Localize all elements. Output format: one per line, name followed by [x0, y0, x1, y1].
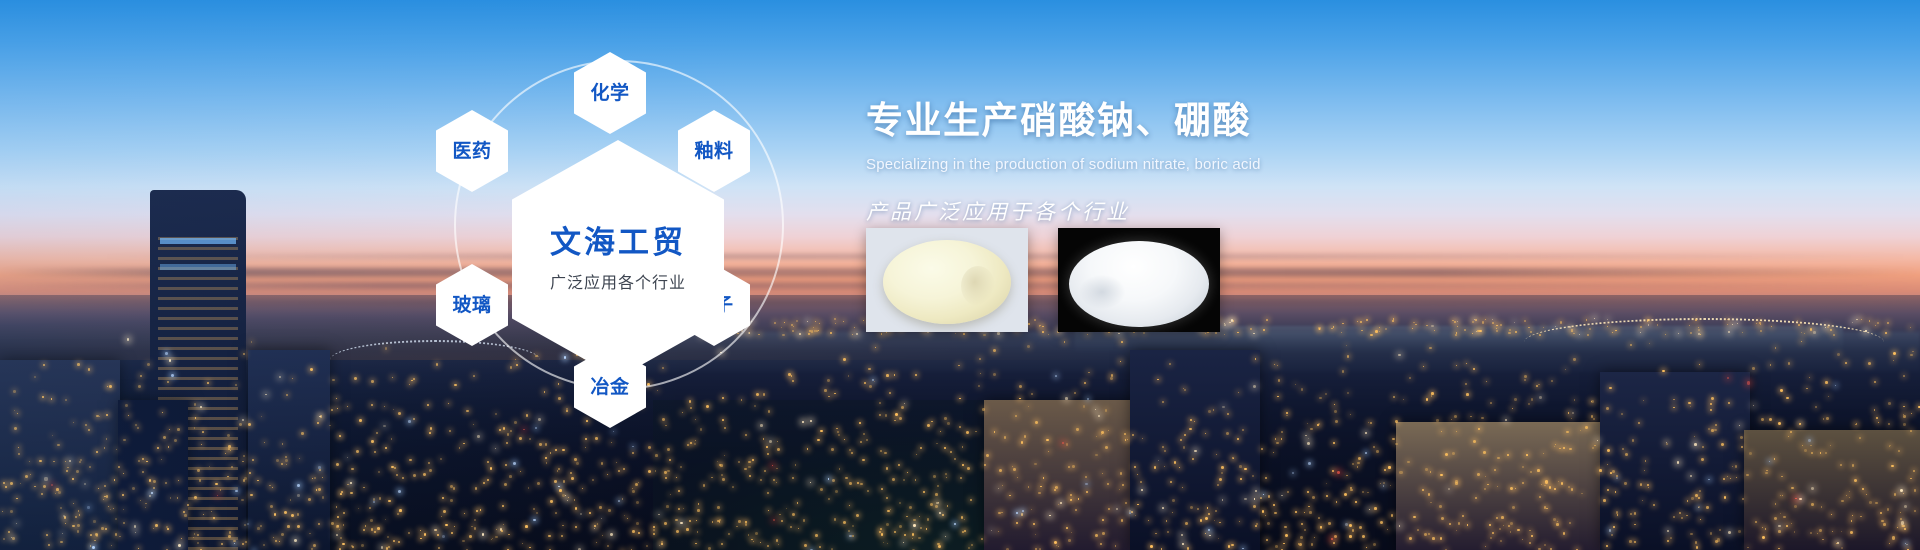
powder-pile [1069, 241, 1209, 327]
building [1600, 372, 1750, 550]
hex-node-label: 釉料 [694, 142, 733, 161]
headline-block: 专业生产硝酸钠、硼酸 Specializing in the productio… [866, 100, 1506, 226]
bridge [1524, 318, 1884, 344]
hex-node-label: 医药 [452, 142, 491, 161]
building [0, 360, 120, 550]
company-tagline: 广泛应用各个行业 [550, 269, 686, 293]
company-name: 文海工贸 [550, 225, 686, 261]
building [1130, 350, 1260, 550]
hex-node-label: 化学 [590, 84, 629, 103]
product-photo-boric-acid [1058, 228, 1220, 332]
slogan: 产品广泛应用于各个行业 [866, 196, 1506, 226]
industry-hexagon-diagram: 化学 釉料 电子 冶金 玻璃 医药 文海工贸 广泛应用各个行业 [430, 22, 810, 442]
headline: 专业生产硝酸钠、硼酸 [866, 100, 1506, 143]
building [984, 400, 1144, 550]
headline-english: Specializing in the production of sodium… [866, 156, 1506, 173]
product-photo-sodium-nitrate [866, 228, 1028, 332]
hex-node-label: 玻璃 [452, 296, 491, 315]
hex-node-label: 冶金 [590, 378, 629, 397]
promotional-banner: 化学 釉料 电子 冶金 玻璃 医药 文海工贸 广泛应用各个行业 专业生产硝酸钠、… [0, 0, 1920, 550]
building [1744, 430, 1920, 550]
powder-pile [883, 240, 1011, 324]
building [1396, 422, 1606, 550]
building [118, 400, 188, 550]
product-photo-row [866, 228, 1220, 332]
building [248, 350, 330, 550]
